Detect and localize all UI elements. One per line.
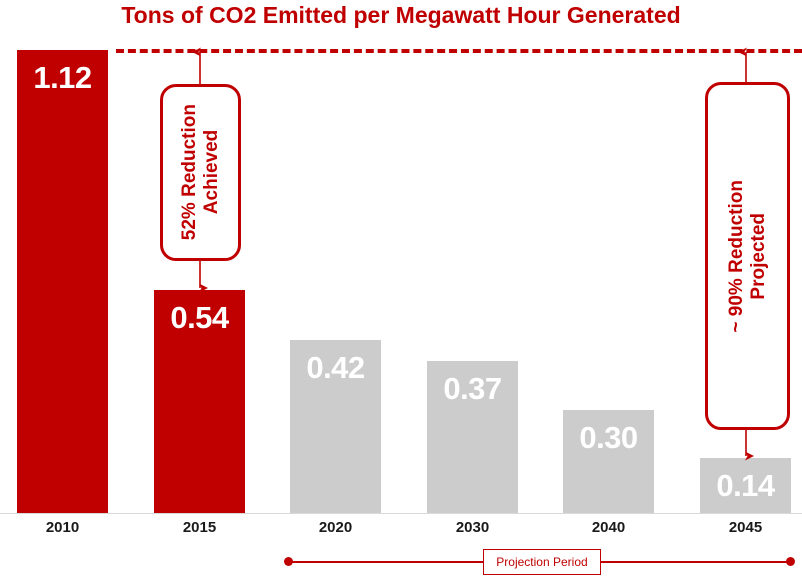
x-label-2010: 2010: [17, 519, 108, 536]
bar-value-2010: 1.12: [17, 62, 108, 93]
plot-area: 1.12 0.54 0.42 0.37 0.30 0.14 52% Reduct…: [0, 0, 802, 514]
projection-end-dot: [786, 557, 795, 566]
bar-2045[interactable]: 0.14: [700, 458, 791, 513]
bar-value-2030: 0.37: [427, 373, 518, 404]
reference-line-dashed: [116, 49, 802, 53]
bar-2040[interactable]: 0.30: [563, 410, 654, 513]
bar-value-2020: 0.42: [290, 352, 381, 383]
x-label-2045: 2045: [700, 519, 791, 536]
projection-period-label: Projection Period: [483, 549, 601, 575]
projection-period-bracket: Projection Period: [0, 546, 802, 578]
x-label-2020: 2020: [290, 519, 381, 536]
bar-2015[interactable]: 0.54: [154, 290, 245, 513]
chart-canvas: Tons of CO2 Emitted per Megawatt Hour Ge…: [0, 0, 802, 578]
bar-value-2015: 0.54: [154, 302, 245, 333]
callout-reduction-achieved[interactable]: 52% Reduction Achieved: [160, 84, 241, 261]
callout-projected-text: ~ 90% Reduction Projected: [726, 180, 770, 333]
axis-baseline: [0, 513, 802, 514]
bar-2030[interactable]: 0.37: [427, 361, 518, 513]
x-label-2040: 2040: [563, 519, 654, 536]
bar-2020[interactable]: 0.42: [290, 340, 381, 513]
callout-reduction-projected[interactable]: ~ 90% Reduction Projected: [705, 82, 790, 430]
bar-2010[interactable]: 1.12: [17, 50, 108, 513]
x-label-2015: 2015: [154, 519, 245, 536]
callout-achieved-text: 52% Reduction Achieved: [179, 104, 223, 240]
bar-value-2045: 0.14: [700, 470, 791, 501]
x-label-2030: 2030: [427, 519, 518, 536]
bar-value-2040: 0.30: [563, 422, 654, 453]
projection-start-dot: [284, 557, 293, 566]
